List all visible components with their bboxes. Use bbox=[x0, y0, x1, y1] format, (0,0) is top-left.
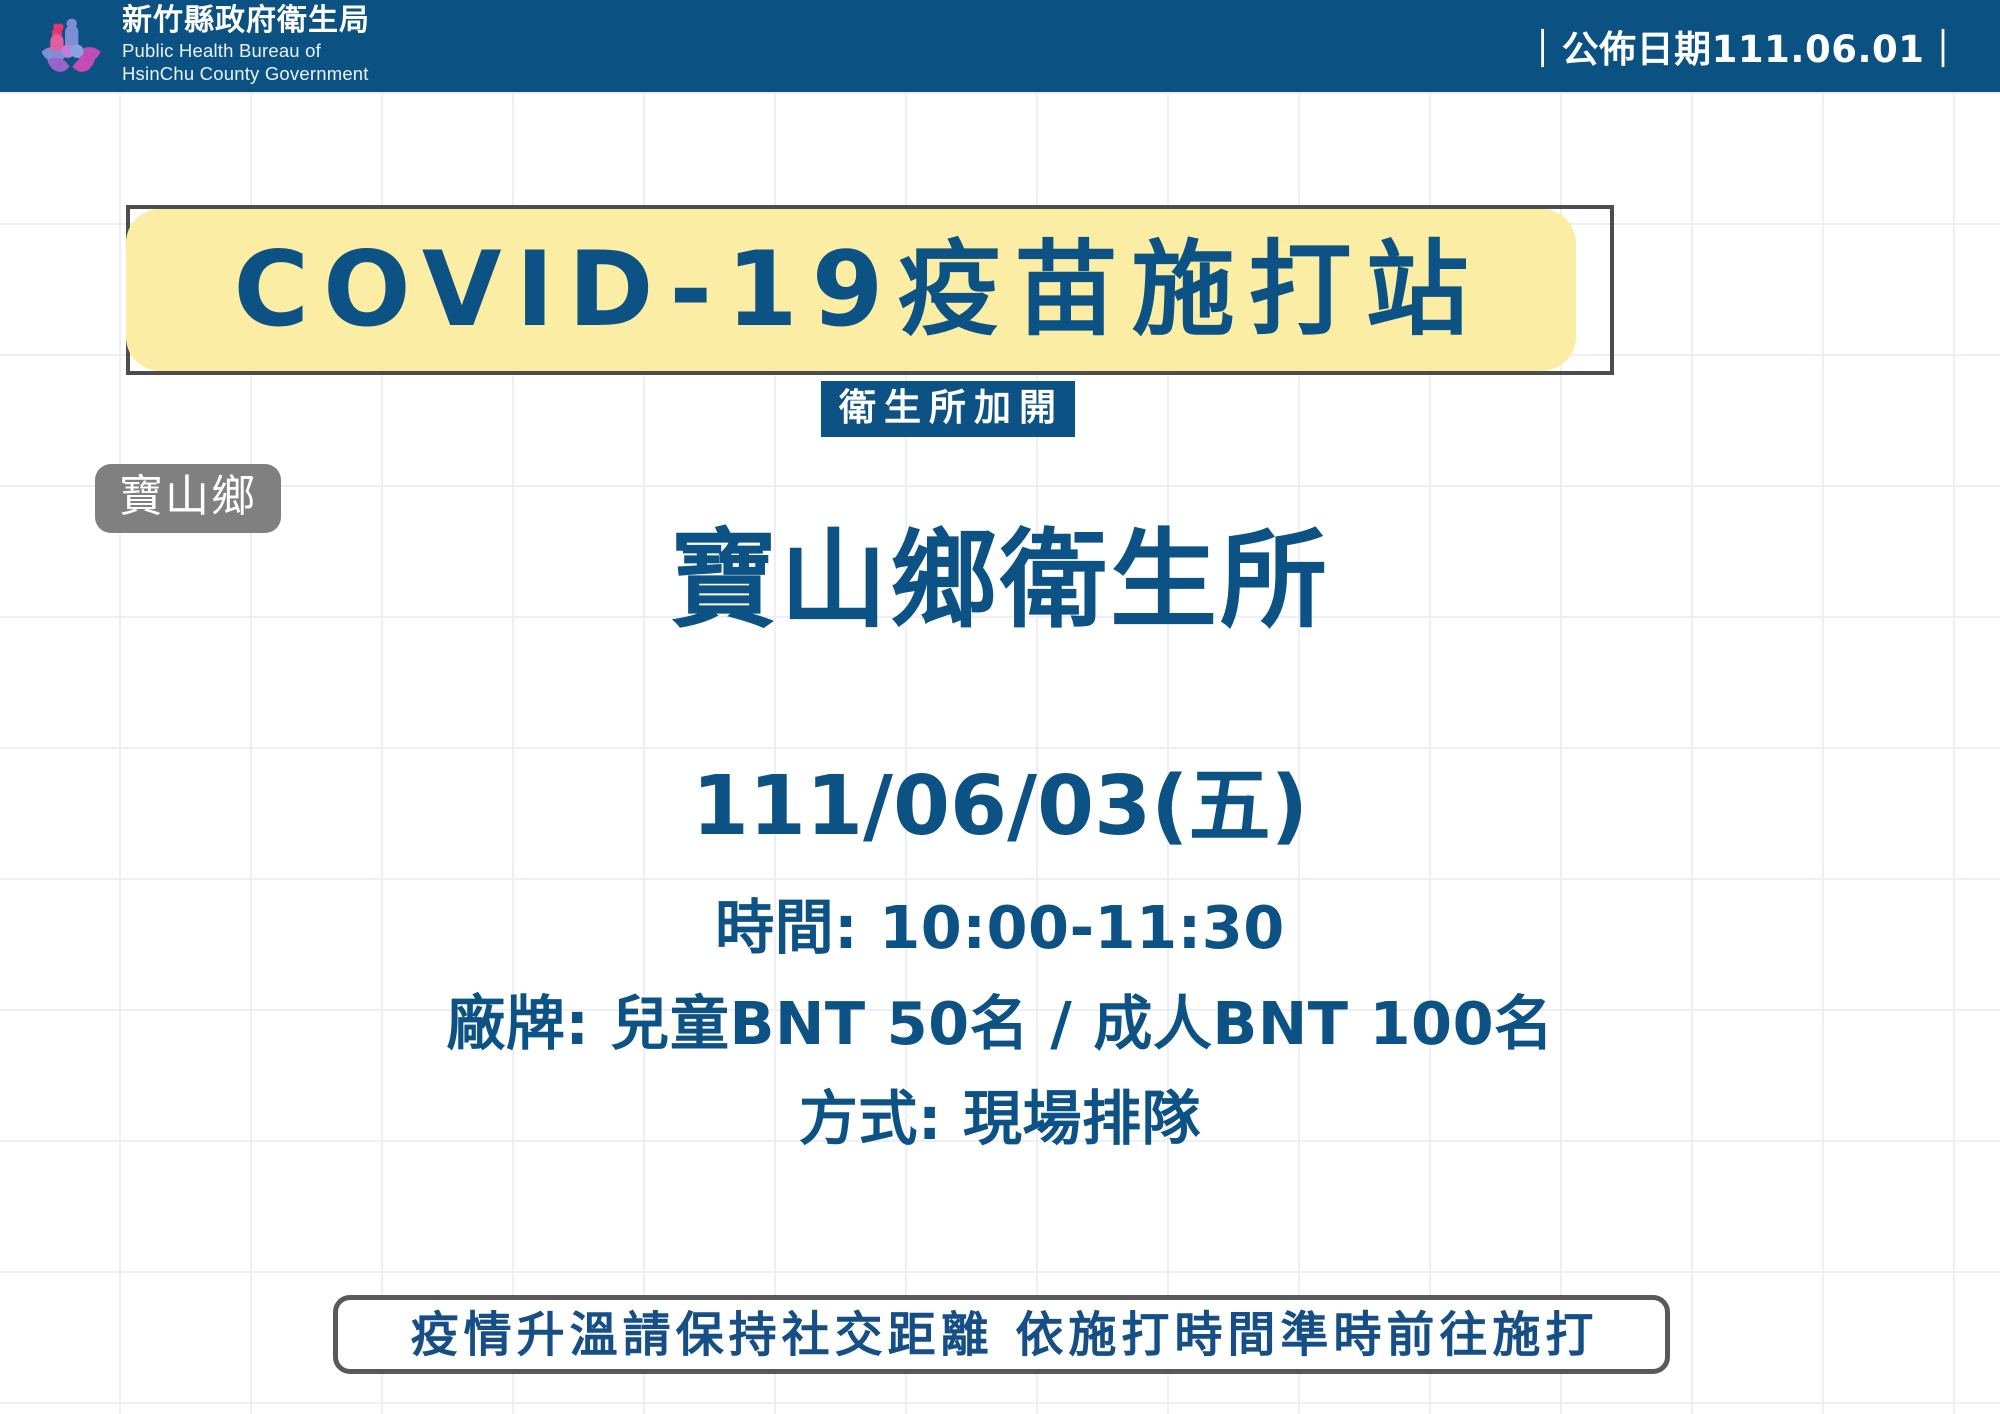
publish-date: ｜公佈日期111.06.01｜ bbox=[1524, 19, 1970, 73]
detail-vaccine-brand: 廠牌: 兒童BNT 50名 / 成人BNT 100名 bbox=[0, 976, 2000, 1072]
venue-name: 寶山鄉衛生所 bbox=[0, 522, 2000, 642]
organization-name-block: 新竹縣政府衛生局 Public Health Bureau of HsinChu… bbox=[122, 6, 370, 85]
organization-name-en-line2: HsinChu County Government bbox=[122, 63, 370, 86]
event-details: 時間: 10:00-11:30 廠牌: 兒童BNT 50名 / 成人BNT 10… bbox=[0, 880, 2000, 1167]
organization-name-en-line1: Public Health Bureau of bbox=[122, 40, 370, 63]
header-bar: 新竹縣政府衛生局 Public Health Bureau of HsinChu… bbox=[0, 0, 2000, 92]
organization-name-en: Public Health Bureau of HsinChu County G… bbox=[122, 40, 370, 85]
vaccination-station-poster: 新竹縣政府衛生局 Public Health Bureau of HsinChu… bbox=[0, 0, 2000, 1414]
title-banner: COVID-19疫苗施打站 bbox=[126, 209, 1576, 371]
footer-notice-text: 疫情升溫請保持社交距離 依施打時間準時前往施打 bbox=[405, 1311, 1599, 1359]
poster-title: COVID-19疫苗施打站 bbox=[220, 239, 1483, 342]
organization-name-zh: 新竹縣政府衛生局 bbox=[122, 6, 370, 36]
detail-time: 時間: 10:00-11:30 bbox=[0, 880, 2000, 976]
footer-notice-box: 疫情升溫請保持社交距離 依施打時間準時前往施打 bbox=[333, 1295, 1670, 1374]
health-bureau-logo-icon bbox=[34, 9, 108, 83]
subtitle-badge: 衛生所加開 bbox=[821, 381, 1075, 437]
event-date: 111/06/03(五) bbox=[0, 760, 2000, 854]
organization-branding: 新竹縣政府衛生局 Public Health Bureau of HsinChu… bbox=[34, 6, 370, 85]
detail-method: 方式: 現場排隊 bbox=[0, 1071, 2000, 1167]
